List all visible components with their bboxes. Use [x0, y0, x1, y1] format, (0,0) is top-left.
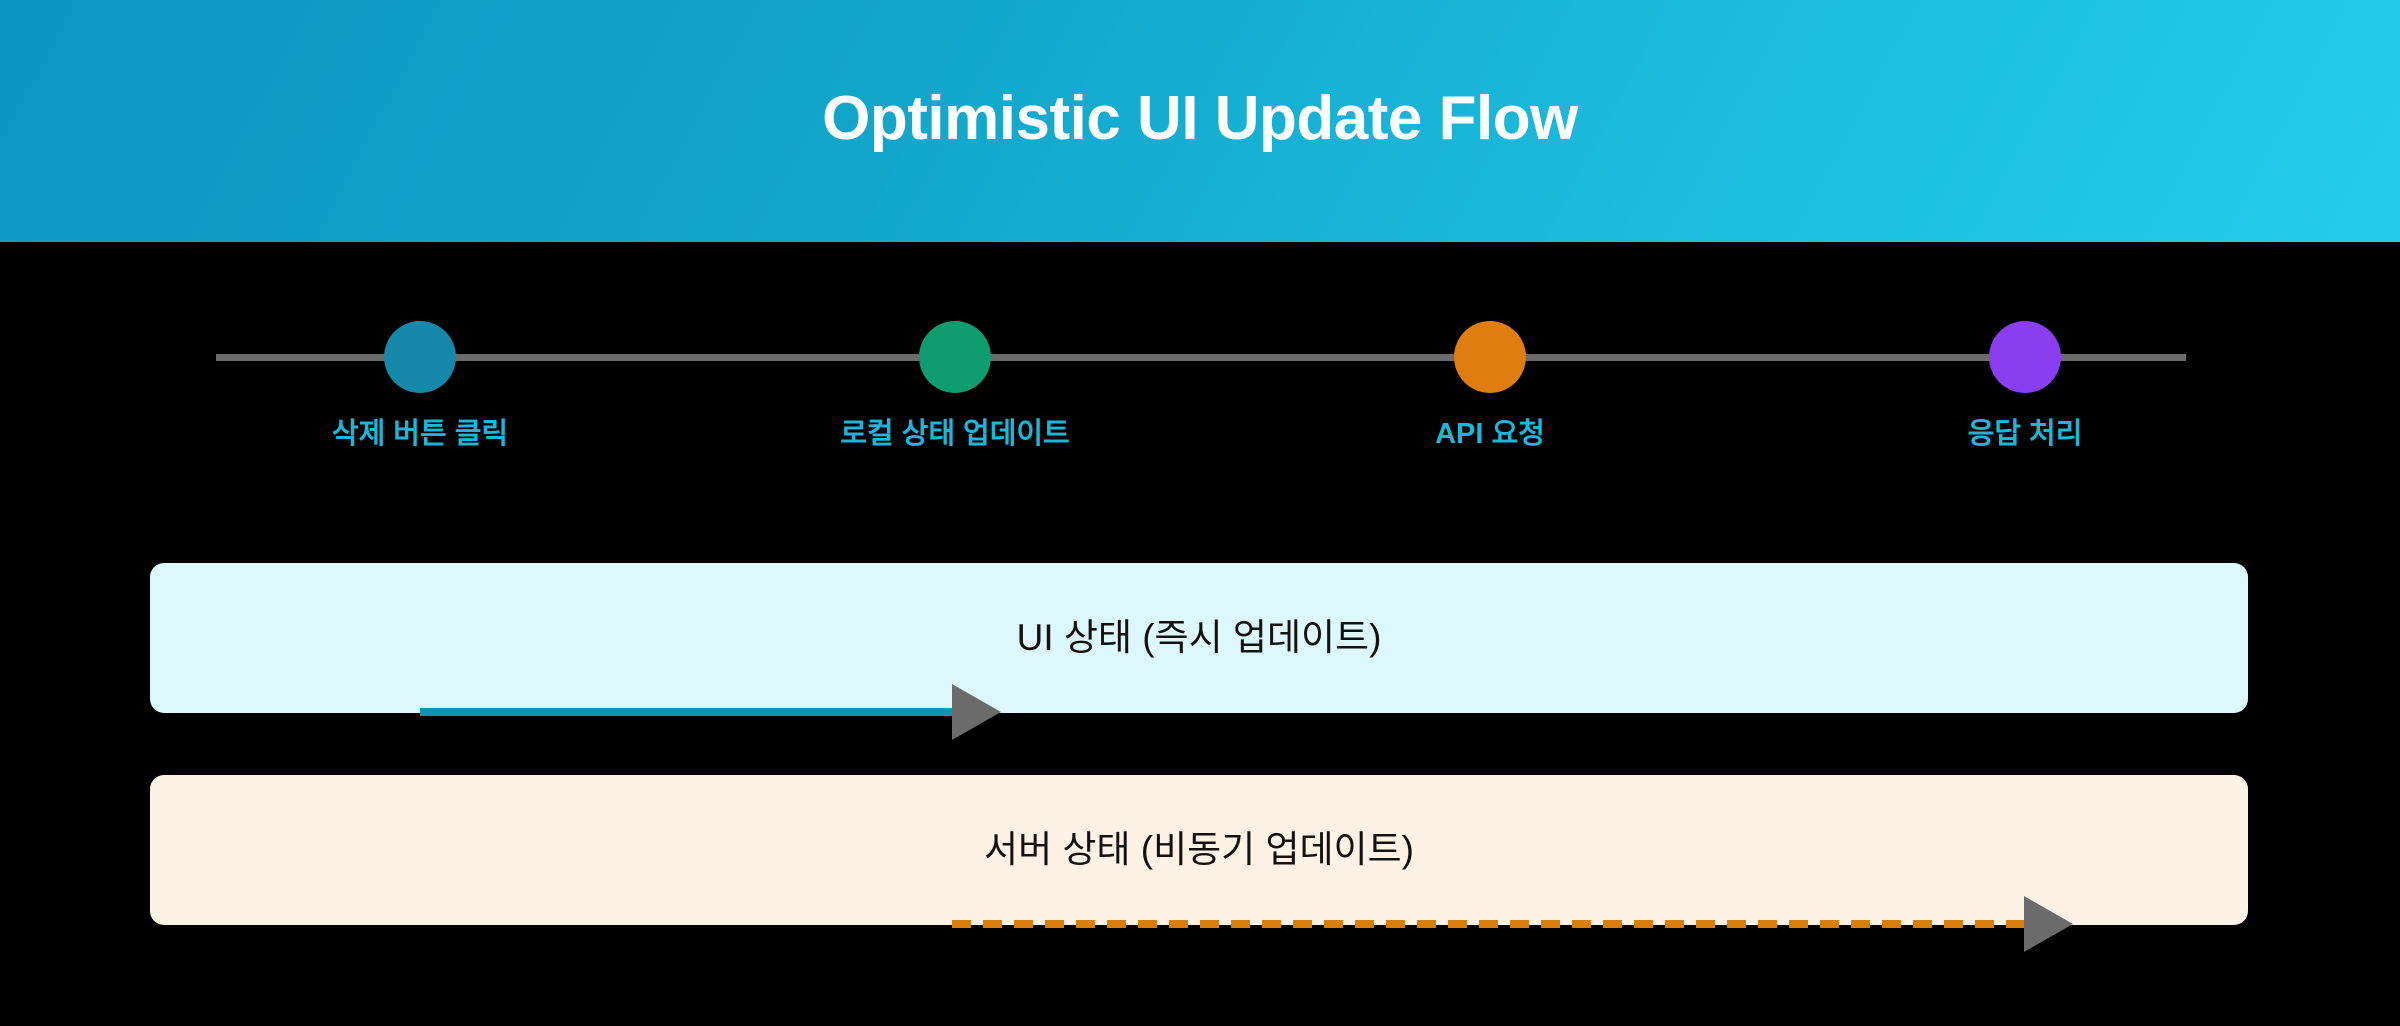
- diagram-header: Optimistic UI Update Flow: [0, 0, 2400, 242]
- milestone-label-4: 응답 처리: [1855, 417, 2195, 452]
- milestone-dot-4[interactable]: [1989, 321, 2061, 393]
- milestone-dot-3[interactable]: [1454, 321, 1526, 393]
- lane-server-state[interactable]: 서버 상태 (비동기 업데이트): [150, 775, 2248, 925]
- timeline-milestone-2[interactable]: 로컬 상태 업데이트: [785, 242, 1125, 492]
- milestone-label-2: 로컬 상태 업데이트: [785, 417, 1125, 452]
- ui-state-flow-line: [420, 708, 952, 716]
- milestone-label-1: 삭제 버튼 클릭: [250, 417, 590, 452]
- timeline-milestone-4[interactable]: 응답 처리: [1855, 242, 2195, 492]
- timeline: 삭제 버튼 클릭 로컬 상태 업데이트 API 요청 응답 처리: [0, 242, 2400, 502]
- timeline-milestone-3[interactable]: API 요청: [1320, 242, 1660, 492]
- ui-state-flow-arrow-icon: [952, 684, 1001, 740]
- server-state-flow-arrow-icon: [2024, 896, 2073, 952]
- lane-server-state-label: 서버 상태 (비동기 업데이트): [984, 828, 1414, 872]
- page-title: Optimistic UI Update Flow: [822, 88, 1578, 150]
- milestone-label-3: API 요청: [1320, 417, 1660, 452]
- diagram-canvas: 삭제 버튼 클릭 로컬 상태 업데이트 API 요청 응답 처리 UI 상태 (…: [0, 242, 2400, 1026]
- milestone-dot-2[interactable]: [919, 321, 991, 393]
- timeline-milestone-1[interactable]: 삭제 버튼 클릭: [250, 242, 590, 492]
- server-state-flow-line: [952, 920, 2024, 928]
- lane-ui-state[interactable]: UI 상태 (즉시 업데이트): [150, 563, 2248, 713]
- lane-ui-state-label: UI 상태 (즉시 업데이트): [1017, 616, 1382, 660]
- milestone-dot-1[interactable]: [384, 321, 456, 393]
